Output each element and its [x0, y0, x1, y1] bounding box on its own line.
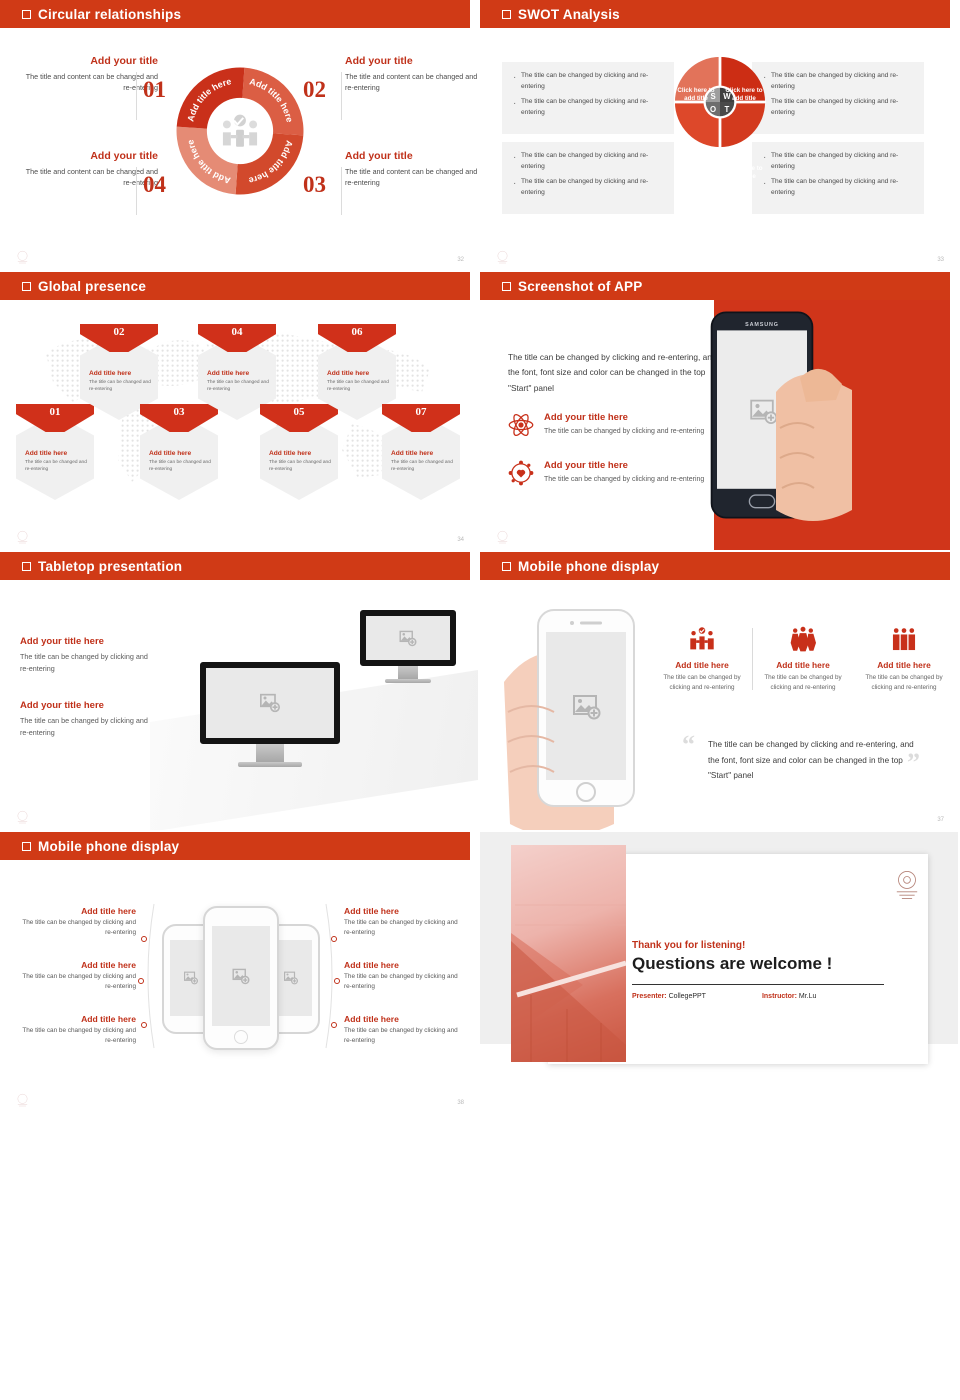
- hex-number: 07: [382, 406, 460, 418]
- instruction-cell-4: The template features scalable SVG icons…: [239, 1275, 450, 1349]
- feature-col-1: Add title here The title can be changed …: [652, 624, 752, 693]
- wheel-label-4: Click here to add title: [720, 165, 768, 182]
- section-body: To change the PPT's signature on each pa…: [528, 1329, 699, 1352]
- right-item-3: Add title here The title can be changed …: [344, 1014, 462, 1047]
- page-title: Mobile phone display: [518, 559, 659, 574]
- tutorial-column-color-editing: Color Editing Color Scheme Customization…: [719, 1201, 930, 1400]
- hex-item-07[interactable]: 07 Add title here The title can be chang…: [382, 414, 460, 500]
- block-title: Add your title: [18, 55, 158, 67]
- bullet: The title can be changed by clicking and…: [763, 71, 913, 92]
- hand-holding-phone: [770, 332, 960, 532]
- signature-emblem-icon: [14, 529, 31, 546]
- square-bullet-icon: [502, 282, 511, 291]
- item-desc: The title can be changed by clicking and…: [18, 918, 136, 939]
- three-column-features: Add title here The title can be changed …: [652, 624, 954, 693]
- website-url[interactable]: www.collegeppt.com: [876, 1093, 936, 1100]
- network-heart-icon: [508, 460, 534, 486]
- hex-item-05[interactable]: 05 Add title here The title can be chang…: [260, 414, 338, 500]
- hex-title: Add title here: [89, 370, 153, 377]
- divider: [632, 984, 884, 985]
- page-title: Circular relationships: [38, 7, 181, 22]
- section-body: Icons are vector-based; you can customiz…: [740, 1353, 910, 1376]
- slide-mobile-phone-display-2[interactable]: Mobile phone display Add title here The …: [0, 832, 480, 1115]
- feature-col-3: Add title here The title can be changed …: [854, 624, 954, 693]
- instruction-text: This template offers a professional, att…: [305, 1217, 432, 1255]
- letter-o: O: [710, 105, 716, 114]
- block-title: Add your title: [18, 150, 158, 162]
- section-body: Change the slide's color scheme easily. …: [740, 1281, 910, 1328]
- item-title: Add title here: [344, 960, 462, 970]
- horizontal-divider: [40, 1275, 438, 1276]
- slide-circular-relationships[interactable]: Circular relationships Add your title Th…: [0, 0, 480, 272]
- hex-item-01[interactable]: 01 Add title here The title can be chang…: [16, 414, 94, 500]
- atom-icon: [508, 412, 534, 438]
- brand-name: CollegePPT: [524, 1128, 596, 1143]
- item-title: Add title here: [18, 906, 136, 916]
- slide-header: Global presence: [0, 272, 470, 300]
- layers-icon: [257, 1217, 291, 1251]
- bullet: The title can be changed by clicking and…: [513, 151, 663, 172]
- hex-number: 04: [198, 326, 276, 338]
- block-title: Add your title: [345, 55, 480, 67]
- item-desc: The title can be changed by clicking and…: [344, 918, 462, 939]
- square-bullet-icon: [502, 10, 511, 19]
- item-desc: The title can be changed by clicking and…: [18, 972, 136, 993]
- slide-header: Mobile phone display: [0, 832, 470, 860]
- bullet: The title can be changed by clicking and…: [513, 177, 663, 198]
- slide-header: SWOT Analysis: [480, 0, 950, 28]
- vertical-divider: [239, 1211, 240, 1302]
- instruction-cell-1: The template's chart data, text, shapes,…: [28, 1201, 239, 1275]
- brand-logo: P CollegePPT: [22, 1127, 116, 1143]
- bullet: The title can be changed by clicking and…: [763, 97, 913, 118]
- block-desc: The title can be changed by clicking and…: [20, 651, 150, 675]
- page-title: Screenshot of APP: [518, 279, 642, 294]
- quote-open-icon: “: [682, 730, 695, 760]
- presenter-label: Presenter:: [632, 993, 667, 1000]
- slide-mobile-phone-display-1[interactable]: Mobile phone display Add title here The …: [480, 552, 960, 832]
- feature-row-1: Add your title here The title can be cha…: [508, 412, 738, 438]
- item-title: Add title here: [18, 1014, 136, 1024]
- swot-box-threats: The title can be changed by clicking and…: [752, 142, 924, 214]
- feature-title: Add your title here: [544, 460, 704, 471]
- page-number: 33: [937, 257, 944, 263]
- brand-logo: P CollegePPT: [502, 1127, 596, 1143]
- slide-tabletop-presentation[interactable]: Tabletop presentation Add your title her…: [0, 552, 480, 832]
- slide-thank-you[interactable]: Thank you for listening! Questions are w…: [480, 832, 960, 1115]
- bullet: The title can be changed by clicking and…: [513, 71, 663, 92]
- tutorial-column-image-editing: Image Editing Photo Update Replace templ…: [508, 1201, 719, 1400]
- column-title: Image Editing: [528, 1228, 597, 1240]
- signature-emblem-icon: [14, 809, 31, 826]
- hex-item-03[interactable]: 03 Add title here The title can be chang…: [140, 414, 218, 500]
- column-title: Color Editing: [740, 1228, 806, 1240]
- hex-desc: The title can be changed and re-entering: [207, 379, 271, 393]
- block-title: Add your title here: [20, 636, 150, 647]
- item-title: Add title here: [344, 1014, 462, 1024]
- bullet: The title can be changed by clicking and…: [763, 177, 913, 198]
- instruction-text: The template's chart data, text, shapes,…: [94, 1217, 221, 1255]
- square-bullet-icon: [22, 842, 31, 851]
- hex-desc: The title can be changed and re-entering: [327, 379, 391, 393]
- slide-swot-analysis[interactable]: SWOT Analysis The title can be changed b…: [480, 0, 960, 272]
- hex-desc: The title can be changed and re-entering: [269, 459, 333, 473]
- presenter-value: CollegePPT: [669, 993, 706, 1000]
- square-bullet-icon: [22, 10, 31, 19]
- bullet: The title can be changed by clicking and…: [513, 97, 663, 118]
- page-title: Mobile phone display: [38, 839, 179, 854]
- left-item-3: Add title here The title can be changed …: [18, 1014, 136, 1047]
- image-placeholder-icon: [258, 693, 282, 713]
- hex-desc: The title can be changed and re-entering: [25, 459, 89, 473]
- instructor-value: Mr.Lu: [799, 993, 817, 1000]
- id-card-icon: [46, 1291, 80, 1325]
- slide-header: Tabletop presentation: [0, 552, 470, 580]
- step-number-04: 04: [143, 172, 166, 198]
- swot-box-opportunities: The title can be changed by clicking and…: [502, 142, 674, 214]
- slide-grid: Circular relationships Add your title Th…: [0, 0, 960, 1400]
- block-desc: The title and content can be changed and…: [345, 71, 480, 93]
- feature-desc: The title can be changed by clicking and…: [759, 673, 847, 693]
- section-heading: Template Instructions: [0, 1161, 478, 1182]
- wheel-label-1: Click here to add title: [672, 87, 720, 104]
- page-number: 34: [457, 537, 464, 543]
- feature-desc: The title can be changed by clicking and…: [860, 673, 948, 693]
- text-block-1: Add your title here The title can be cha…: [20, 636, 150, 675]
- hex-title: Add title here: [269, 450, 333, 457]
- slide-screenshot-of-app[interactable]: Screenshot of APP The title can be chang…: [480, 272, 960, 552]
- hand-holding-iphone: [490, 592, 650, 832]
- feature-desc: The title can be changed by clicking and…: [658, 673, 746, 693]
- square-bullet-icon: [502, 562, 511, 571]
- text-block-2: Add your title here The title can be cha…: [20, 700, 150, 739]
- instruction-cell-2: This template offers a professional, att…: [239, 1201, 450, 1275]
- hex-desc: The title can be changed and re-entering: [89, 379, 153, 393]
- people-group-icon: [790, 626, 816, 652]
- decorative-photo: [511, 845, 626, 1062]
- block-desc: The title and content can be changed and…: [18, 166, 158, 188]
- item-desc: The title can be changed by clicking and…: [344, 1026, 462, 1047]
- block-desc: The title can be changed by clicking and…: [20, 715, 150, 739]
- left-item-1: Add title here The title can be changed …: [18, 906, 136, 939]
- swot-box-strengths: The title can be changed by clicking and…: [502, 62, 674, 134]
- feature-col-2: Add title here The title can be changed …: [753, 624, 853, 693]
- image-placeholder-icon: [283, 971, 299, 985]
- questions-line: Questions are welcome !: [632, 954, 832, 974]
- feature-title: Add title here: [658, 660, 746, 670]
- left-column: Add your title The title and content can…: [18, 55, 158, 133]
- page-title: Tabletop presentation: [38, 559, 182, 574]
- slide-template-instructions[interactable]: P CollegePPT Template Instructions The t…: [0, 1115, 480, 1400]
- slide-header: Circular relationships: [0, 0, 470, 28]
- item-desc: The title can be changed by clicking and…: [18, 1026, 136, 1047]
- monitor-large: [200, 662, 340, 767]
- page-title: SWOT Analysis: [518, 7, 620, 22]
- hex-title: Add title here: [391, 450, 455, 457]
- collegeppt-mark-icon: P: [502, 1127, 518, 1143]
- signature-emblem-icon: [494, 249, 511, 266]
- feature-title: Add your title here: [544, 412, 704, 423]
- square-bullet-icon: [22, 562, 31, 571]
- hex-title: Add title here: [25, 450, 89, 457]
- hex-number: 06: [318, 326, 396, 338]
- wheel-label-3: Click here to add title: [672, 165, 720, 182]
- item-desc: The title can be changed by clicking and…: [344, 972, 462, 993]
- tutorial-panel: Image Editing Photo Update Replace templ…: [508, 1201, 930, 1349]
- section-title: Photo Update: [528, 1269, 699, 1278]
- presenter-meta: Presenter: CollegePPT Instructor: Mr.Lu: [632, 993, 816, 1000]
- palette-icon: [880, 1219, 910, 1249]
- step-number-01: 01: [143, 77, 166, 103]
- thanks-line: Thank you for listening!: [632, 940, 745, 951]
- swot-box-weaknesses: The title can be changed by clicking and…: [752, 62, 924, 134]
- teamwork-icon: [219, 110, 261, 152]
- item-title: Add title here: [344, 906, 462, 916]
- signature-emblem-icon: [890, 868, 924, 902]
- block-desc: The title and content can be changed and…: [345, 166, 480, 188]
- team-row-icon: [891, 626, 917, 652]
- feature-desc: The title can be changed by clicking and…: [544, 474, 704, 485]
- quote-text: The title can be changed by clicking and…: [708, 737, 920, 784]
- feature-row-2: Add your title here The title can be cha…: [508, 460, 738, 486]
- section-title: Signature Update: [528, 1317, 699, 1326]
- hex-title: Add title here: [327, 370, 391, 377]
- page-number: 38: [457, 1100, 464, 1106]
- image-placeholder-icon: [398, 630, 418, 647]
- section-heading: Template Tutorial: [480, 1161, 958, 1182]
- block-desc: The title and content can be changed and…: [18, 71, 158, 93]
- feature-desc: The title can be changed by clicking and…: [544, 426, 704, 437]
- right-column: Add your title The title and content can…: [345, 55, 480, 133]
- lightbulb-icon: [669, 1219, 699, 1249]
- page-number: 37: [937, 817, 944, 823]
- collegeppt-mark-icon: P: [22, 1127, 38, 1143]
- section-title: Color Scheme Customization: [740, 1269, 910, 1278]
- dribbble-icon: [257, 1291, 291, 1325]
- block-title: Add your title: [345, 150, 480, 162]
- ppt-file-icon: [46, 1217, 80, 1251]
- letter-t: T: [725, 105, 730, 114]
- instruction-text: Whether you are a teacher or a student, …: [94, 1291, 221, 1329]
- right-item-1: Add title here The title can be changed …: [344, 906, 462, 939]
- hex-title: Add title here: [149, 450, 213, 457]
- signature-emblem-icon: [14, 1092, 31, 1109]
- slide-template-tutorial[interactable]: P CollegePPT Template Tutorial Image Edi…: [480, 1115, 960, 1400]
- instruction-cell-3: Whether you are a teacher or a student, …: [28, 1275, 239, 1349]
- hex-desc: The title can be changed and re-entering: [391, 459, 455, 473]
- hex-title: Add title here: [207, 370, 271, 377]
- signature-emblem-icon: [494, 529, 511, 546]
- phone-center: [203, 906, 279, 1050]
- slide-header: Screenshot of APP: [480, 272, 950, 300]
- right-column-2: Add your title The title and content can…: [345, 150, 480, 228]
- section-title: Vector Icon Adjustment: [740, 1341, 910, 1350]
- hex-desc: The title can be changed and re-entering: [149, 459, 213, 473]
- left-column-2: Add your title The title and content can…: [18, 150, 158, 228]
- instruction-text: The template features scalable SVG icons…: [305, 1291, 432, 1329]
- signature-emblem-icon: [14, 249, 31, 266]
- page-number: 32: [457, 257, 464, 263]
- square-bullet-icon: [22, 282, 31, 291]
- image-placeholder-icon: [231, 968, 251, 985]
- phone-brand-label: SAMSUNG: [745, 322, 779, 328]
- section-body: Replace template images with your own fo…: [528, 1281, 699, 1304]
- wheel-label-2: Click here to add title: [720, 87, 768, 104]
- slide-header: Mobile phone display: [480, 552, 950, 580]
- feature-title: Add title here: [860, 660, 948, 670]
- image-placeholder-icon: [183, 971, 199, 985]
- block-title: Add your title here: [20, 700, 150, 711]
- slide-global-presence[interactable]: Global presence 01 Add title here The ti…: [0, 272, 480, 552]
- instructor-label: Instructor:: [762, 993, 797, 1000]
- right-item-2: Add title here The title can be changed …: [344, 960, 462, 993]
- feature-title: Add title here: [759, 660, 847, 670]
- monitor-small: [360, 610, 456, 683]
- bullet: The title can be changed by clicking and…: [763, 151, 913, 172]
- hex-number: 02: [80, 326, 158, 338]
- quote-close-icon: ”: [907, 748, 920, 778]
- brand-name: CollegePPT: [44, 1128, 116, 1143]
- item-title: Add title here: [18, 960, 136, 970]
- page-title: Global presence: [38, 279, 146, 294]
- left-item-2: Add title here The title can be changed …: [18, 960, 136, 993]
- team-check-icon: [689, 626, 715, 652]
- intro-paragraph: The title can be changed by clicking and…: [508, 350, 718, 396]
